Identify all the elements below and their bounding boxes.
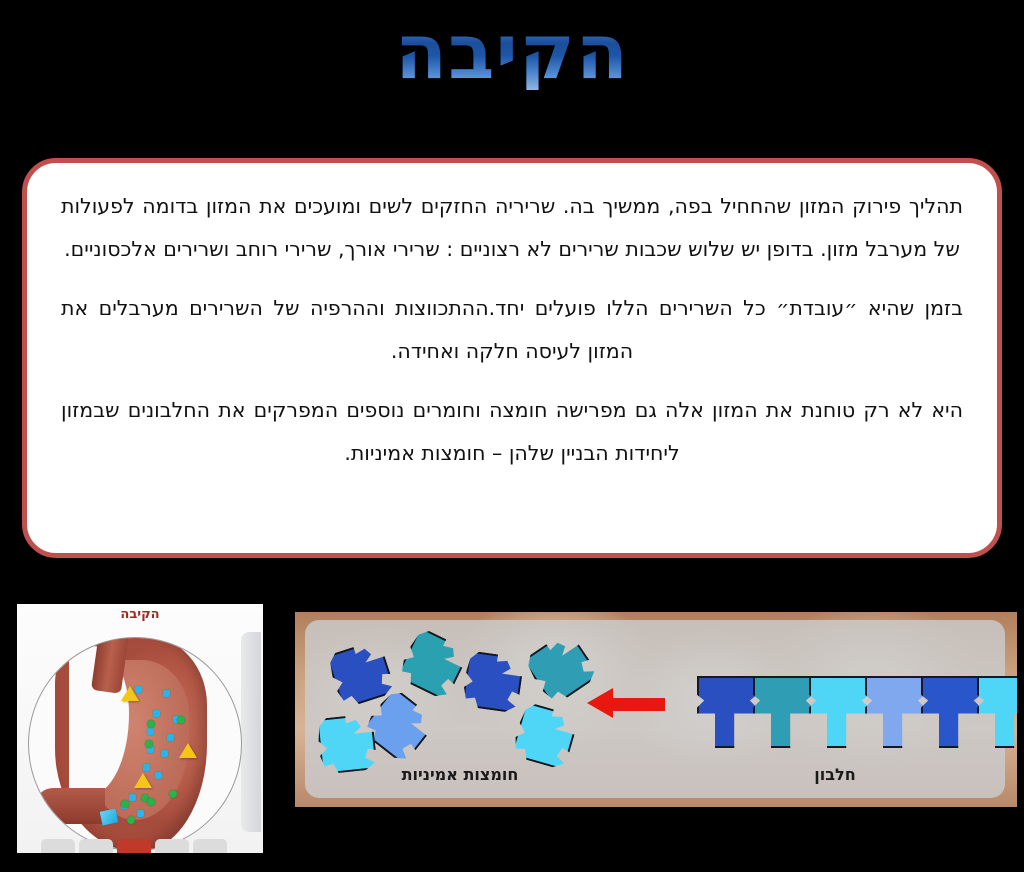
molecule-dot (163, 690, 170, 697)
content-text-card: תהליך פירוק המזון שהחחיל בפה, ממשיך בה. … (22, 158, 1002, 558)
protein-chain-link (697, 676, 757, 748)
molecule-dot (153, 710, 160, 717)
bottom-tray (17, 835, 263, 853)
nutrient-dot (147, 798, 155, 806)
paragraph-3: היא לא רק טוחנת את המזון אלה גם מפרישה ח… (61, 389, 963, 476)
stomach-stage (17, 604, 263, 853)
protein-chain-link (921, 676, 981, 748)
nutrient-dot (145, 740, 153, 748)
page-title: הקיבה (0, 14, 1024, 90)
protein-caption: חלבון (725, 765, 945, 784)
protein-chain (697, 676, 1017, 746)
molecule-dot (155, 772, 162, 779)
digestion-arrow-icon (587, 695, 665, 711)
molecule-dot (129, 794, 136, 801)
protein-digestion-image: חומצות אמיניות חלבון (295, 612, 1017, 807)
protein-chain-link (809, 676, 869, 748)
molecule-dot (167, 734, 174, 741)
stomach-magnifier-circle (28, 637, 242, 851)
molecule-dot (161, 750, 168, 757)
amino-acid-piece (461, 650, 524, 713)
molecule-dot (147, 728, 154, 735)
amino-acids-caption: חומצות אמיניות (345, 765, 575, 784)
nutrient-dot (169, 790, 177, 798)
paragraph-2: בזמן שהיא ״עובדת״ כל השרירים הללו פועלים… (61, 287, 963, 374)
stomach-figure-label: הקיבה (17, 607, 263, 622)
molecule-dot (143, 764, 150, 771)
molecule-dot (135, 686, 142, 693)
amino-acid-piece (396, 627, 471, 702)
nutrient-dot (177, 716, 185, 724)
stomach-diagram-image: הקיבה (17, 604, 263, 853)
protein-chain-link (865, 676, 925, 748)
enzyme-triangle-icon (134, 773, 152, 788)
enzyme-triangle-icon (179, 743, 197, 758)
stomach-side-panel (241, 632, 261, 832)
duodenum-shape (35, 788, 105, 824)
molecule-dot (137, 810, 144, 817)
protein-chain-link (753, 676, 813, 748)
protein-chain-link (977, 676, 1017, 748)
amino-acid-piece (326, 639, 397, 710)
nutrient-dot (127, 816, 135, 824)
amino-acid-piece (510, 701, 579, 770)
protein-overlay-panel: חומצות אמיניות חלבון (305, 620, 1005, 798)
paragraph-1: תהליך פירוק המזון שהחחיל בפה, ממשיך בה. … (61, 185, 963, 272)
nutrient-dot (147, 720, 155, 728)
nutrient-dot (121, 800, 129, 808)
